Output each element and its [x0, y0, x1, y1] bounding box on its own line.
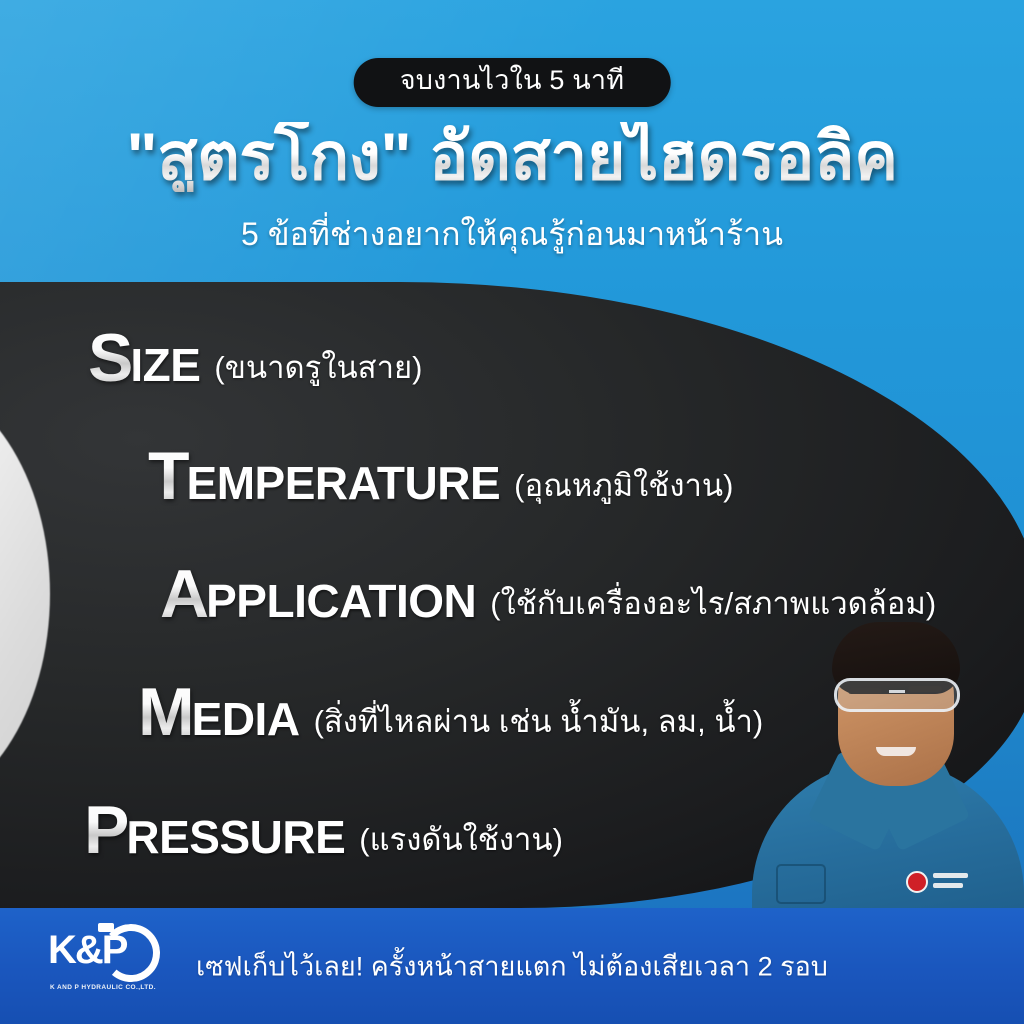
item-thai-note: (ขนาดรูในสาย)	[214, 352, 422, 383]
brand-logo[interactable]: K&P K AND P HYDRAULIC CO.,LTD.	[40, 926, 166, 1006]
header-badge: จบงานไวใน 5 นาที	[354, 58, 671, 107]
footer-cta-text: เซฟเก็บไว้เลย! ครั้งหน้าสายแตก ไม่ต้องเส…	[196, 945, 828, 988]
list-item: P RESSURE (แรงดันใช้งาน)	[84, 796, 563, 864]
list-item: T EMPERATURE (อุณหภูมิใช้งาน)	[148, 442, 733, 510]
list-item: A PPLICATION (ใช้กับเครื่องอะไร/สภาพแวดล…	[160, 560, 936, 628]
logo-subtext: K AND P HYDRAULIC CO.,LTD.	[40, 984, 166, 991]
item-thai-note: (อุณหภูมิใช้งาน)	[514, 470, 733, 501]
list-item: M EDIA (สิ่งที่ไหลผ่าน เช่น น้ำมัน, ลม, …	[138, 678, 763, 746]
logo-mark: K&P	[40, 926, 166, 986]
item-thai-note: (แรงดันใช้งาน)	[359, 824, 563, 855]
page-subtitle: 5 ข้อที่ช่างอยากให้คุณรู้ก่อนมาหน้าร้าน	[0, 215, 1024, 253]
item-word: EDIA	[192, 696, 300, 742]
item-initial: T	[148, 442, 189, 510]
list-item: S IZE (ขนาดรูในสาย)	[88, 324, 422, 392]
item-thai-note: (ใช้กับเครื่องอะไร/สภาพแวดล้อม)	[490, 588, 936, 619]
item-word: RESSURE	[126, 814, 345, 860]
item-thai-note: (สิ่งที่ไหลผ่าน เช่น น้ำมัน, ลม, น้ำ)	[314, 706, 764, 737]
item-word: PPLICATION	[206, 578, 476, 624]
hose-fitting-icon	[98, 923, 114, 932]
item-initial: M	[138, 678, 194, 746]
item-initial: S	[88, 324, 132, 392]
checklist: S IZE (ขนาดรูในสาย) T EMPERATURE (อุณหภู…	[0, 282, 1024, 908]
page-title: "สูตรโกง" อัดสายไฮดรอลิค	[0, 122, 1024, 192]
footer-bar: K&P K AND P HYDRAULIC CO.,LTD. เซฟเก็บไว…	[0, 908, 1024, 1024]
item-word: EMPERATURE	[187, 460, 501, 506]
item-initial: A	[160, 560, 208, 628]
item-word: IZE	[130, 342, 200, 388]
item-initial: P	[84, 796, 128, 864]
poster-canvas: จบงานไวใน 5 นาที "สูตรโกง" อัดสายไฮดรอลิ…	[0, 0, 1024, 1024]
